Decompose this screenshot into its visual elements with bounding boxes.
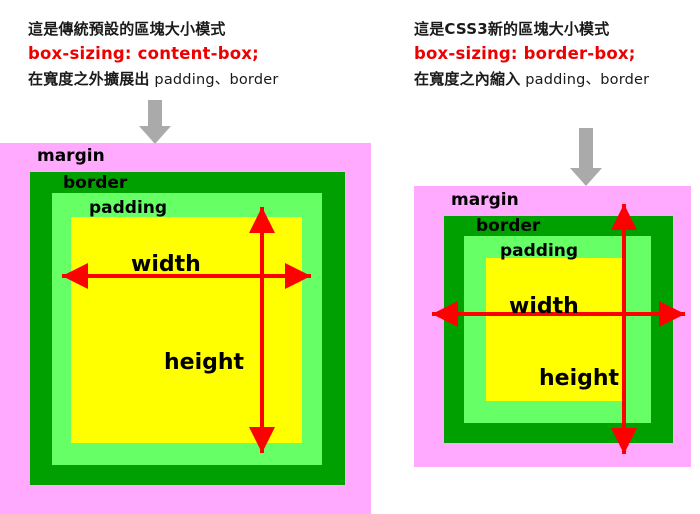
content-box-diagram: margin border padding width height: [0, 143, 371, 514]
down-arrow-head: [139, 126, 171, 144]
width-label: width: [131, 254, 201, 276]
down-arrow-head: [570, 168, 602, 186]
padding-label: padding: [500, 243, 578, 260]
box-model-comparison-diagram: 這是傳統預設的區塊大小模式 box-sizing: content-box; 在…: [0, 0, 700, 514]
height-arrow-head-top: [611, 204, 637, 230]
border-label: border: [476, 218, 540, 235]
height-label: height: [164, 352, 244, 374]
height-measure-arrow: [609, 204, 639, 454]
caption-left-line-3: 在寬度之外擴展出 padding、border: [28, 72, 279, 88]
caption-right-code: box-sizing: border-box;: [414, 46, 649, 63]
height-arrow-line: [260, 207, 264, 453]
down-arrow-shaft: [148, 100, 162, 126]
width-arrow-head-right: [285, 263, 311, 289]
caption-left-line-1: 這是傳統預設的區塊大小模式: [28, 22, 279, 37]
caption-left-line-3-plain: padding、border: [150, 72, 279, 88]
caption-right-line-1: 這是CSS3新的區塊大小模式: [414, 22, 649, 37]
width-arrow-head-right: [659, 301, 685, 327]
caption-left-line-3-bold: 在寬度之外擴展出: [28, 70, 150, 88]
caption-right-line-3: 在寬度之內縮入 padding、border: [414, 72, 649, 88]
border-label: border: [63, 175, 127, 192]
down-arrow-icon: [570, 128, 602, 188]
padding-label: padding: [89, 200, 167, 217]
height-arrow-head-bottom: [249, 427, 275, 453]
caption-border-box: 這是CSS3新的區塊大小模式 box-sizing: border-box; 在…: [414, 22, 649, 96]
margin-label: margin: [451, 192, 519, 209]
caption-right-line-3-bold: 在寬度之內縮入: [414, 70, 520, 88]
height-arrow-head-top: [249, 207, 275, 233]
caption-left-code: box-sizing: content-box;: [28, 46, 279, 63]
height-label: height: [539, 368, 619, 390]
height-arrow-line: [622, 204, 626, 454]
down-arrow-shaft: [579, 128, 593, 168]
caption-content-box: 這是傳統預設的區塊大小模式 box-sizing: content-box; 在…: [28, 22, 279, 96]
width-arrow-head-left: [62, 263, 88, 289]
height-arrow-head-bottom: [611, 428, 637, 454]
height-measure-arrow: [247, 207, 277, 453]
border-box-diagram: margin border padding width height: [414, 186, 691, 467]
caption-right-line-3-plain: padding、border: [520, 72, 649, 88]
margin-label: margin: [37, 148, 105, 165]
width-label: width: [509, 296, 579, 318]
down-arrow-icon: [139, 100, 171, 144]
width-arrow-head-left: [432, 301, 458, 327]
